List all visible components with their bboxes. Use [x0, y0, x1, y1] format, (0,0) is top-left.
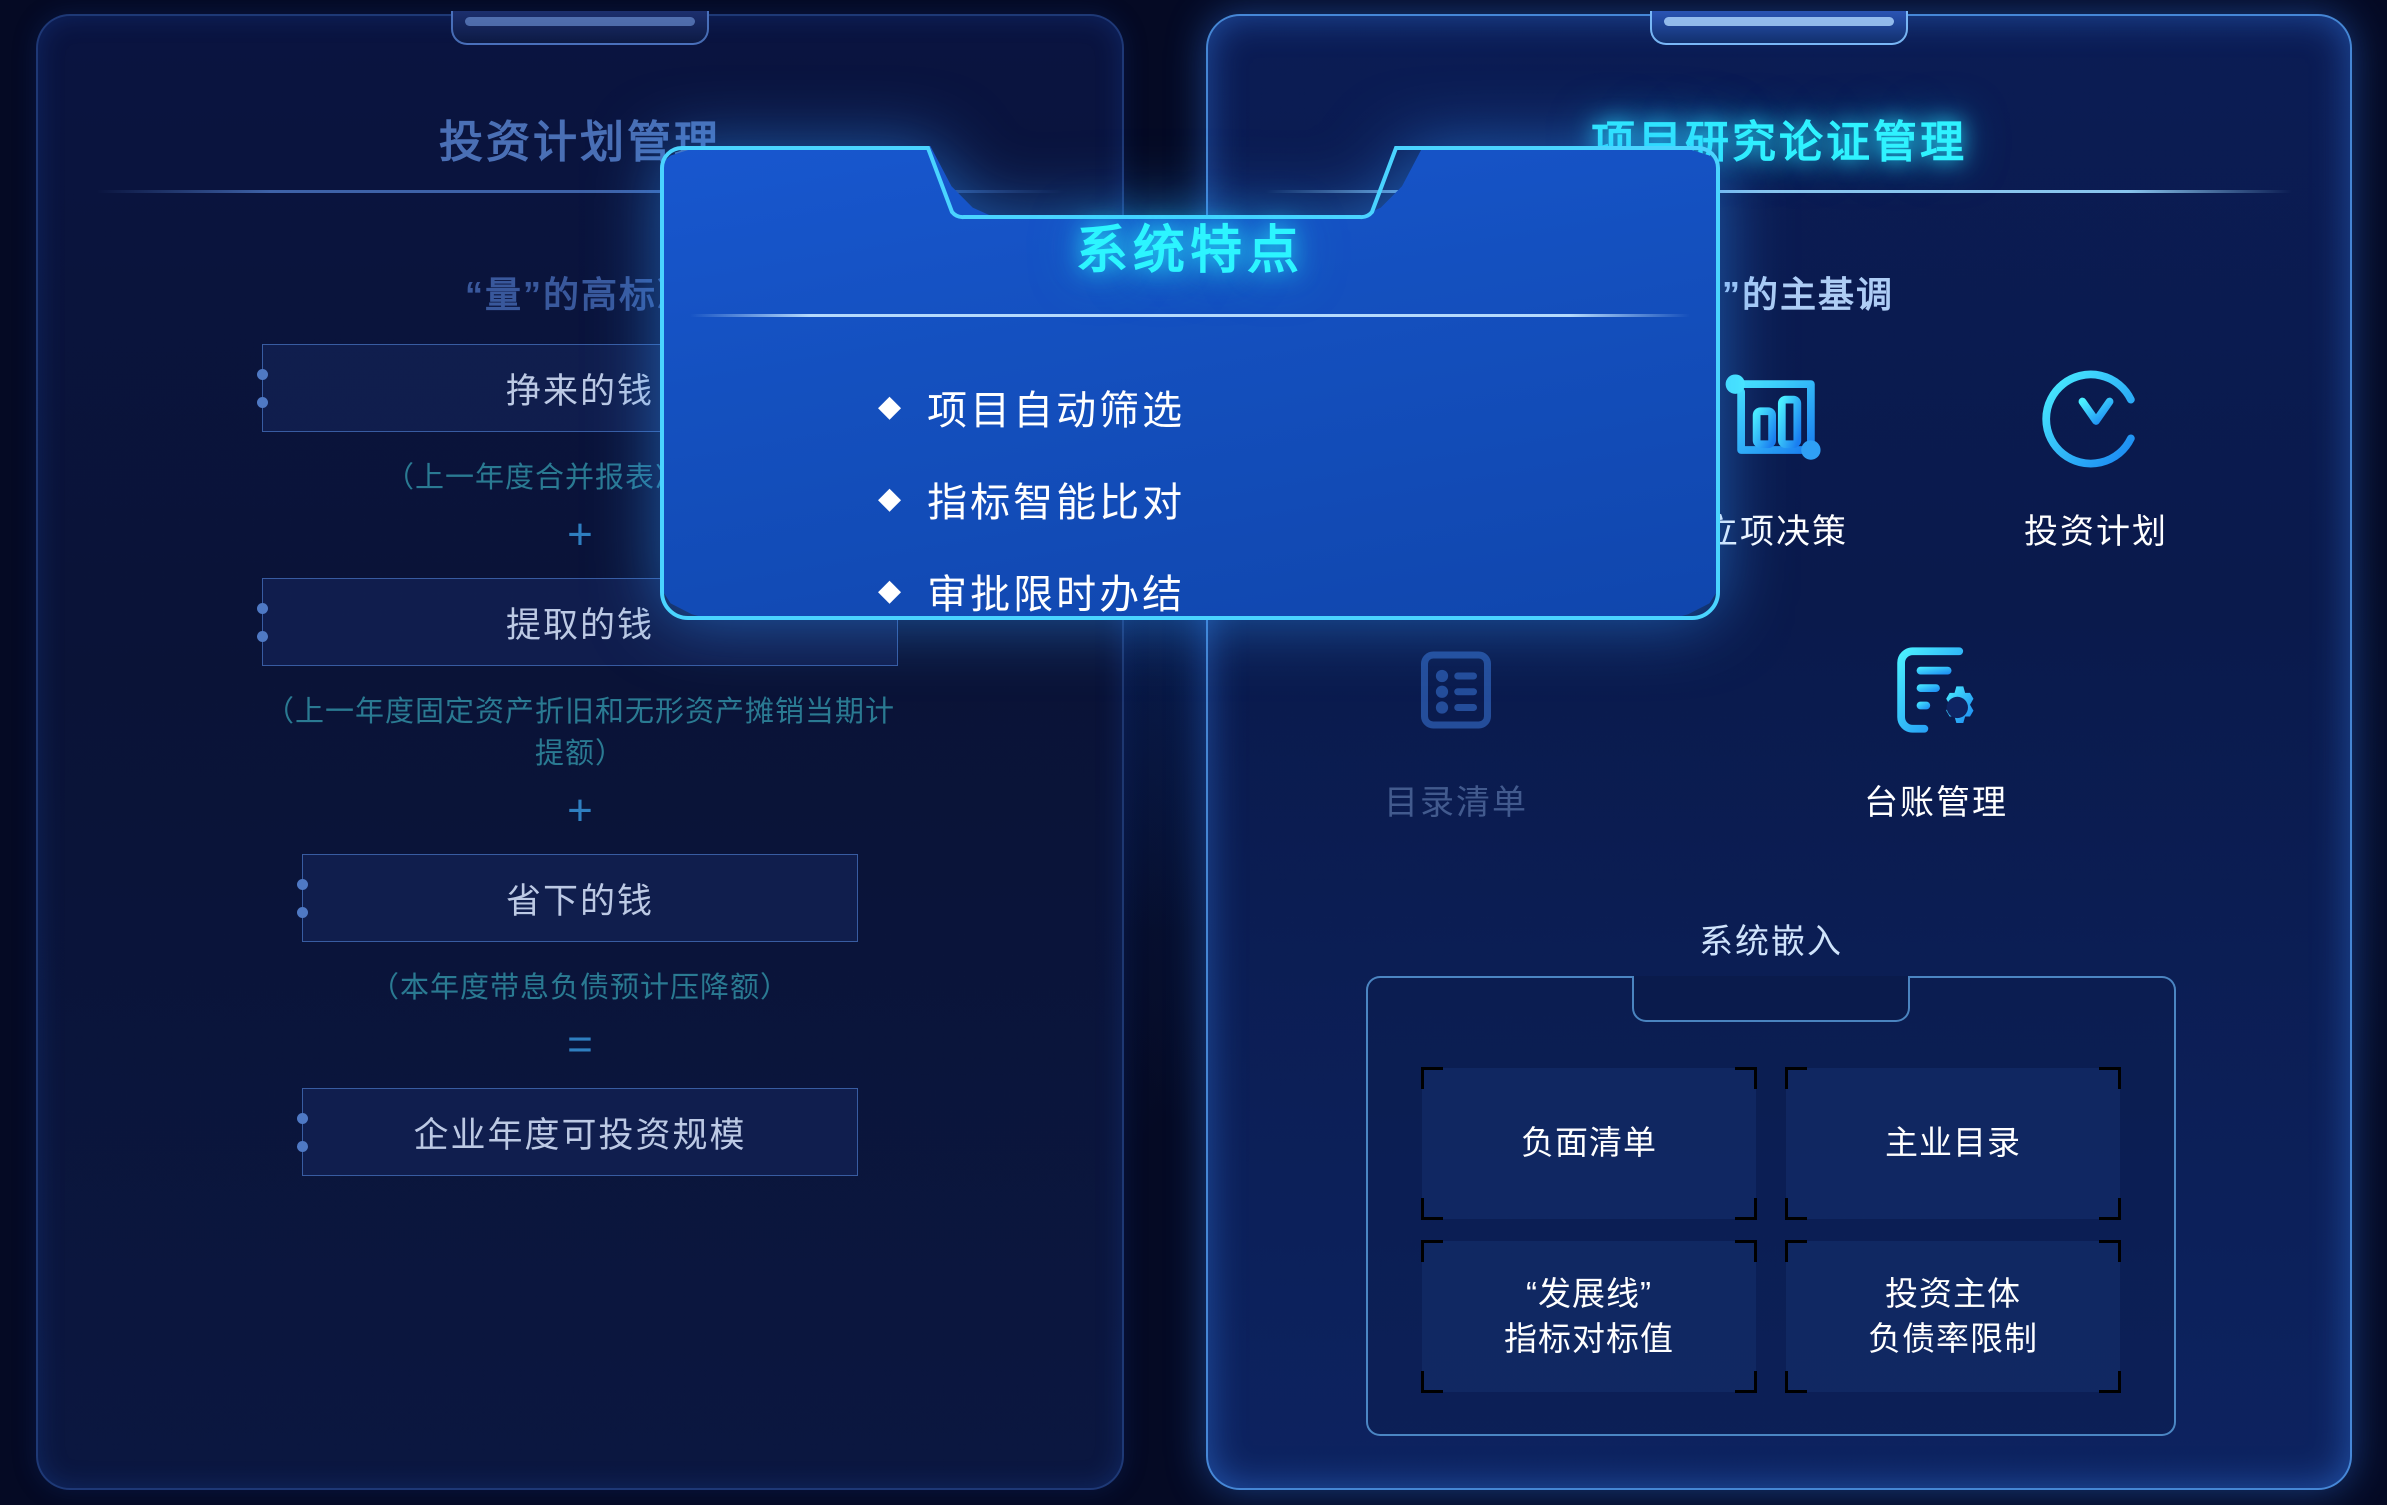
flow-box-saved[interactable]: 省下的钱: [302, 854, 858, 942]
corner-bracket-icon: [1421, 1371, 1443, 1393]
corner-bracket-icon: [1421, 1067, 1443, 1089]
modal-item-label: 指标智能比对: [927, 470, 1185, 528]
diamond-bullet-icon: ◆: [878, 576, 901, 606]
flow-box-result[interactable]: 企业年度可投资规模: [302, 1088, 858, 1176]
corner-bracket-icon: [1735, 1240, 1757, 1262]
corner-bracket-icon: [1785, 1198, 1807, 1220]
flow-box-label: 挣来的钱: [506, 363, 654, 414]
system-features-modal[interactable]: 系统特点 ◆ 项目自动筛选 ◆ 指标智能比对 ◆ 审批限时办结: [660, 146, 1720, 620]
modal-item-label: 审批限时办结: [927, 562, 1185, 620]
diamond-bullet-icon: ◆: [878, 484, 901, 514]
corner-bracket-icon: [1785, 1240, 1807, 1262]
corner-bracket-icon: [2099, 1198, 2121, 1220]
flow-note-saved: （本年度带息负债预计压降额）: [262, 964, 898, 1006]
embed-cell-line2: 负债率限制: [1868, 1317, 2038, 1361]
icon-label: 目录清单: [1296, 775, 1616, 824]
flow-note-withdrawn: （上一年度固定资产折旧和无形资产摊销当期计提额）: [262, 688, 898, 772]
modal-list-item[interactable]: ◆ 项目自动筛选: [878, 378, 1185, 436]
modal-list-item[interactable]: ◆ 审批限时办结: [878, 562, 1185, 620]
embed-cell-text: 负面清单: [1521, 1121, 1657, 1165]
system-embed-grid: 负面清单 主业目录 “发展线” 指标对标值: [1422, 1068, 2120, 1392]
system-embed-tab: 系统嵌入: [1632, 976, 1910, 1022]
embed-cell-line1: 负面清单: [1521, 1121, 1657, 1165]
corner-bracket-icon: [1421, 1198, 1443, 1220]
node-dot-icon: [257, 603, 268, 614]
modal-list-item[interactable]: ◆ 指标智能比对: [878, 470, 1185, 528]
corner-bracket-icon: [1735, 1198, 1757, 1220]
flow-box-label: 提取的钱: [506, 597, 654, 648]
embed-cell-development-line[interactable]: “发展线” 指标对标值: [1422, 1241, 1756, 1392]
embed-cell-text: 投资主体 负债率限制: [1868, 1272, 2038, 1360]
node-dot-icon: [257, 397, 268, 408]
modal-item-label: 项目自动筛选: [927, 378, 1185, 436]
icon-row-bottom: 目录清单: [1296, 615, 2256, 824]
modal-title: 系统特点: [660, 208, 1720, 283]
checklist-icon: [1296, 615, 1616, 765]
yuan-refresh-icon: [1936, 344, 2256, 494]
icon-label: 台账管理: [1776, 775, 2096, 824]
icon-cell-investment-plan[interactable]: 投资计划: [1936, 344, 2256, 553]
corner-bracket-icon: [2099, 1240, 2121, 1262]
panel-left-notch: [451, 11, 709, 45]
flow-operator-plus-2: +: [262, 786, 898, 836]
node-dot-icon: [297, 879, 308, 890]
embed-cell-text: 主业目录: [1885, 1121, 2021, 1165]
icon-cell-catalog-list[interactable]: 目录清单: [1296, 615, 1616, 824]
corner-bracket-icon: [2099, 1067, 2121, 1089]
embed-cell-line2: 指标对标值: [1504, 1317, 1674, 1361]
node-dot-icon: [297, 1113, 308, 1124]
panel-right-notch: [1650, 11, 1908, 45]
icon-cell-ledger-management[interactable]: 台账管理: [1776, 615, 2096, 824]
flow-box-label: 省下的钱: [506, 873, 654, 924]
node-dot-icon: [297, 907, 308, 918]
modal-divider: [690, 314, 1690, 317]
embed-cell-investor-debt-limit[interactable]: 投资主体 负债率限制: [1786, 1241, 2120, 1392]
node-dot-icon: [257, 369, 268, 380]
node-dot-icon: [257, 631, 268, 642]
system-embed-label: 系统嵌入: [1699, 914, 1843, 963]
embed-cell-line1: 主业目录: [1885, 1121, 2021, 1165]
corner-bracket-icon: [1785, 1371, 1807, 1393]
diamond-bullet-icon: ◆: [878, 392, 901, 422]
flow-box-label: 企业年度可投资规模: [413, 1107, 746, 1158]
document-gear-icon: [1776, 615, 2096, 765]
embed-cell-negative-list[interactable]: 负面清单: [1422, 1068, 1756, 1219]
flow-operator-equals: =: [262, 1020, 898, 1070]
corner-bracket-icon: [1735, 1371, 1757, 1393]
corner-bracket-icon: [1421, 1240, 1443, 1262]
embed-cell-line1: 投资主体: [1868, 1272, 2038, 1316]
embed-cell-text: “发展线” 指标对标值: [1504, 1272, 1674, 1360]
modal-feature-list: ◆ 项目自动筛选 ◆ 指标智能比对 ◆ 审批限时办结: [878, 378, 1185, 654]
icon-label: 投资计划: [1936, 504, 2256, 553]
node-dot-icon: [297, 1141, 308, 1152]
system-embed-container: 系统嵌入 负面清单 主业目录: [1366, 976, 2176, 1436]
embed-cell-line1: “发展线”: [1504, 1272, 1674, 1316]
corner-bracket-icon: [1785, 1067, 1807, 1089]
corner-bracket-icon: [2099, 1371, 2121, 1393]
corner-bracket-icon: [1735, 1067, 1757, 1089]
embed-cell-main-business-catalog[interactable]: 主业目录: [1786, 1068, 2120, 1219]
